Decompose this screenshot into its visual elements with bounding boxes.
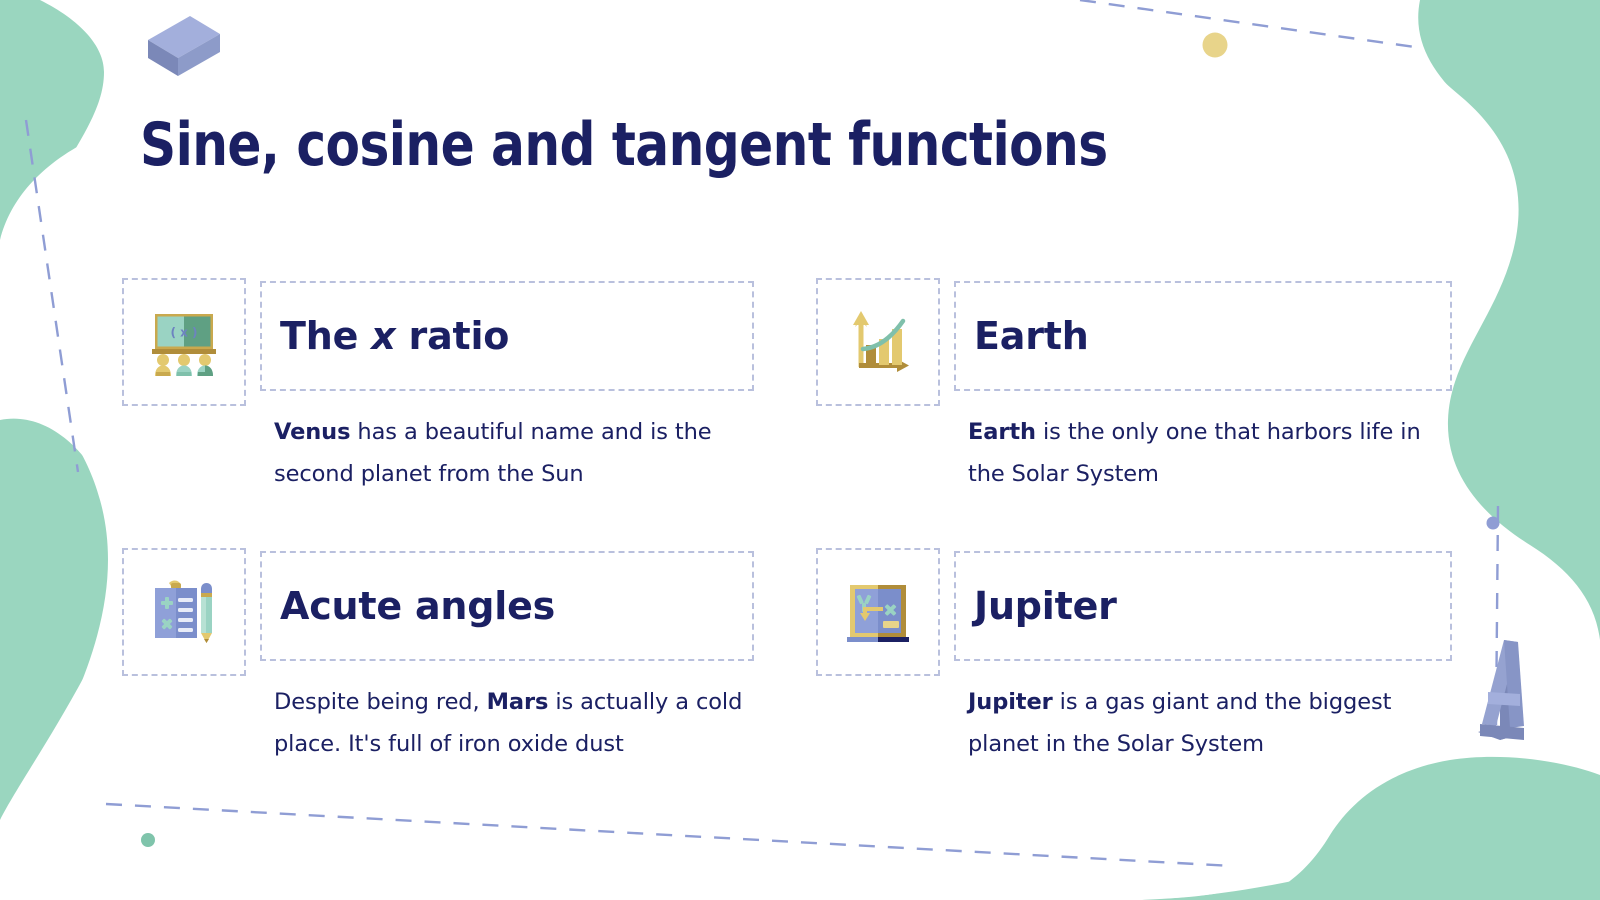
card-body: Venus has a beautiful name and is the se… [274,412,744,496]
card-header: Jupiter [816,548,1452,676]
card-body-highlight: Venus [274,419,350,445]
card-title: Jupiter [974,584,1117,628]
clipboard-pencil-math-icon [147,575,221,649]
card-body: Despite being red, Mars is actually a co… [274,682,744,766]
title-box: The x ratio [260,281,754,391]
card-title: Earth [974,314,1089,358]
card-title-pre: The [280,314,371,358]
card-body-text-pre: Despite being red, [274,689,487,715]
svg-text:( x ): ( x ) [170,326,197,340]
icon-box[interactable]: ( x ) [122,278,246,406]
card-the-x-ratio[interactable]: ( x ) [122,278,754,408]
cards-grid: ( x ) [122,278,1452,728]
card-jupiter[interactable]: Jupiter Jupiter is a gas giant and the b… [816,548,1452,678]
card-body-highlight: Mars [487,689,549,715]
classroom-blackboard-icon: ( x ) [147,305,221,379]
card-body-highlight: Jupiter [968,689,1053,715]
card-header: ( x ) [122,278,754,406]
whiteboard-math-icon [841,575,915,649]
card-title: Acute angles [280,584,555,628]
icon-box[interactable] [816,278,940,406]
card-earth[interactable]: Earth Earth is the only one that harbors… [816,278,1452,408]
slide-canvas: Sine, cosine and tangent functions ( x ) [0,0,1600,900]
icon-box[interactable] [816,548,940,676]
card-header: Acute angles [122,548,754,676]
icon-box[interactable] [122,548,246,676]
title-box: Jupiter [954,551,1452,661]
card-title-post: ratio [396,314,510,358]
title-box: Acute angles [260,551,754,661]
growth-bar-chart-icon [841,305,915,379]
title-box: Earth [954,281,1452,391]
slide-content: Sine, cosine and tangent functions ( x ) [0,0,1600,900]
card-title: The x ratio [280,314,509,358]
card-header: Earth [816,278,1452,406]
card-body: Earth is the only one that harbors life … [968,412,1448,496]
card-acute-angles[interactable]: Acute angles Despite being red, Mars is … [122,548,754,678]
card-body-highlight: Earth [968,419,1036,445]
card-body-text: is the only one that harbors life in the… [968,419,1421,487]
card-title-emphasis: x [371,314,395,358]
card-body: Jupiter is a gas giant and the biggest p… [968,682,1448,766]
page-title: Sine, cosine and tangent functions [140,110,1108,180]
